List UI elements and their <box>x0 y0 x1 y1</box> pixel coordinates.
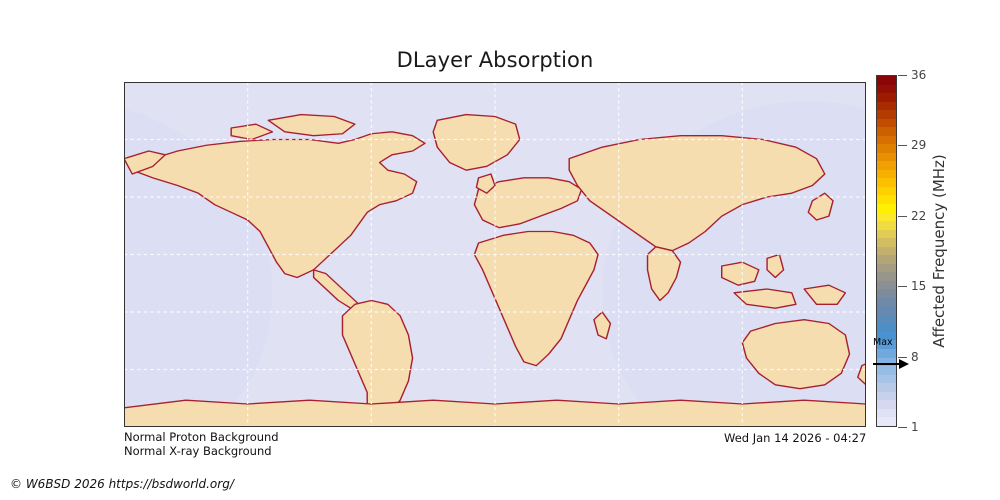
colorbar-band <box>877 289 896 298</box>
colorbar-tick-label: 8 <box>911 350 919 364</box>
colorbar-band <box>877 85 896 94</box>
colorbar-band <box>877 281 896 290</box>
map-canvas <box>124 82 866 427</box>
colorbar[interactable] <box>876 75 897 427</box>
colorbar-band <box>877 195 896 204</box>
colorbar-band <box>877 230 896 239</box>
colorbar-band <box>877 213 896 222</box>
colorbar-tick <box>898 286 907 287</box>
world-map-plot[interactable] <box>124 82 866 427</box>
colorbar-band <box>877 409 896 418</box>
colorbar-band <box>877 153 896 162</box>
colorbar-band <box>877 272 896 281</box>
colorbar-tick-label: 29 <box>911 138 926 152</box>
colorbar-band <box>877 306 896 315</box>
colorbar-tick <box>898 75 907 76</box>
colorbar-band <box>877 102 896 111</box>
dlayer-absorption-figure: DLayer Absorption <box>0 0 1000 500</box>
colorbar-tick <box>898 145 907 146</box>
colorbar-band <box>877 323 896 332</box>
colorbar-band <box>877 221 896 230</box>
colorbar-band <box>877 315 896 324</box>
colorbar-band <box>877 170 896 179</box>
colorbar-tick <box>898 357 907 358</box>
colorbar-band <box>877 144 896 153</box>
colorbar-band <box>877 366 896 375</box>
colorbar-band <box>877 76 896 85</box>
colorbar-tick-label: 22 <box>911 209 926 223</box>
colorbar-band <box>877 187 896 196</box>
colorbar-tick-label: 15 <box>911 279 926 293</box>
proton-background-annotation: Normal Proton Background <box>124 430 279 444</box>
colorbar-band <box>877 178 896 187</box>
colorbar-band <box>877 204 896 213</box>
colorbar-band <box>877 298 896 307</box>
max-marker-label: Max <box>873 337 893 348</box>
colorbar-tick-label: 36 <box>911 68 926 82</box>
xray-background-annotation: Normal X-ray Background <box>124 444 272 458</box>
copyright-credit: © W6BSD 2026 https://bsdworld.org/ <box>10 477 234 491</box>
colorbar-band <box>877 417 896 426</box>
colorbar-band <box>877 161 896 170</box>
colorbar-band <box>877 392 896 401</box>
timestamp-annotation: Wed Jan 14 2026 - 04:27 <box>724 431 866 445</box>
colorbar-tick <box>898 216 907 217</box>
colorbar-tick-label: 1 <box>911 420 919 434</box>
colorbar-axis-label: Affected Frequency (MHz) <box>930 75 952 427</box>
colorbar-band <box>877 119 896 128</box>
colorbar-band <box>877 127 896 136</box>
colorbar-band <box>877 358 896 367</box>
page-title: DLayer Absorption <box>0 48 990 72</box>
colorbar-band <box>877 400 896 409</box>
colorbar-band <box>877 247 896 256</box>
colorbar-band <box>877 383 896 392</box>
colorbar-band <box>877 238 896 247</box>
colorbar-band <box>877 255 896 264</box>
colorbar-band <box>877 375 896 384</box>
colorbar-band <box>877 110 896 119</box>
colorbar-band <box>877 264 896 273</box>
colorbar-tick <box>898 427 907 428</box>
colorbar-band <box>877 136 896 145</box>
colorbar-gradient-strip <box>876 75 897 427</box>
colorbar-band <box>877 349 896 358</box>
colorbar-band <box>877 93 896 102</box>
